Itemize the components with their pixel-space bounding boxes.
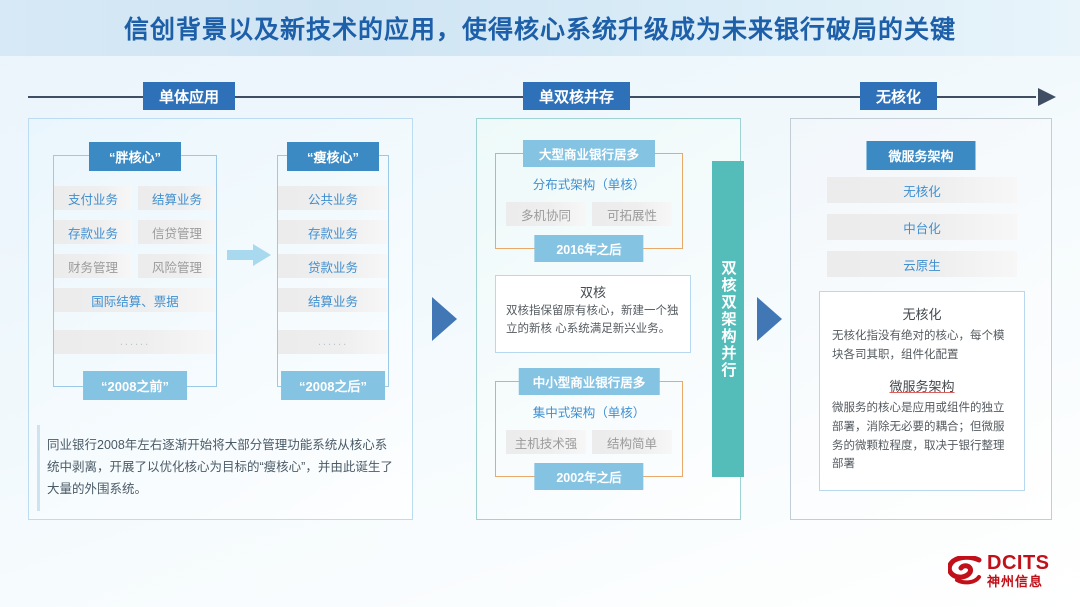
box-small-bank: 中小型商业银行居多 集中式架构（单核） 主机技术强 结构简单 2002年之后 [495,381,683,477]
note-dual-core-body: 双核指保留原有核心，新建一个独立的新核 心系统满足新兴业务。 [506,303,680,339]
table-row: 存款业务 [278,220,388,244]
note-spacer [832,364,1012,374]
cell-支付业务: 支付业务 [54,186,132,210]
cell-国际结算票据: 国际结算、票据 [54,288,216,312]
table-row: 贷款业务 [278,254,388,278]
table-row: 多机协同 可拓展性 [496,202,682,226]
box-fat-core-header: “胖核心” [89,142,181,171]
note-no-kernel: 无核化 无核化指没有绝对的核心，每个模块各司其职，组件化配置 微服务架构 微服务… [819,291,1025,491]
dual-core-sidebar: 双核双架构并行 [712,161,744,477]
note-dual-core-title: 双核 [506,282,680,301]
panel-no-kernel: 微服务架构 无核化 中台化 云原生 无核化 无核化指没有绝对的核心，每个模块各司… [790,118,1052,520]
table-row: ...... [54,330,216,354]
cell-云原生: 云原生 [827,251,1017,277]
cell-结算业务: 结算业务 [138,186,216,210]
timeline-stage-单体应用[interactable]: 单体应用 [143,82,235,110]
tag-结构简单: 结构简单 [592,430,672,454]
cell-结算业务: 结算业务 [278,288,388,312]
table-row: 国际结算、票据 [54,288,216,312]
box-fat-core-footer: “2008之前” [83,371,187,400]
transition-arrow-icon [227,244,271,266]
stage-arrow-icon-2 [757,297,782,341]
large-bank-arch-title: 分布式架构（单核） [496,174,682,193]
timeline-arrow-icon [1038,88,1056,106]
note-dual-core: 双核 双核指保留原有核心，新建一个独立的新核 心系统满足新兴业务。 [495,275,691,353]
panel-single-description: 同业银行2008年左右逐渐开始将大部分管理功能系统从核心系统中剥离，开展了以优化… [39,431,404,511]
panel-single-application: “胖核心” 支付业务 结算业务 存款业务 信贷管理 财务管理 风险管理 国际结算… [28,118,413,520]
cell-存款业务: 存款业务 [54,220,132,244]
table-row: 存款业务 信贷管理 [54,220,216,244]
note-no-kernel-title-2: 微服务架构 [832,376,1012,395]
tag-多机协同: 多机协同 [506,202,586,226]
table-row: 支付业务 结算业务 [54,186,216,210]
box-small-bank-footer: 2002年之后 [534,463,643,490]
box-thin-core-footer: “2008之后” [281,371,385,400]
note-no-kernel-body-2: 微服务的核心是应用或组件的独立部署，消除无必要的耦合；但微服务的微颗粒程度，取决… [832,399,1012,474]
cell-公共业务: 公共业务 [278,186,388,210]
cell-贷款业务: 贷款业务 [278,254,388,278]
logo-text-cn: 神州信息 [987,575,1050,588]
no-kernel-row-list: 无核化 中台化 云原生 [827,177,1017,288]
small-bank-arch-title: 集中式架构（单核） [496,402,682,421]
page-title: 信创背景以及新技术的应用，使得核心系统升级成为未来银行破局的关键 [124,10,956,46]
panel-dual-core: 大型商业银行居多 分布式架构（单核） 多机协同 可拓展性 2016年之后 双核 … [476,118,741,520]
tag-可拓展性: 可拓展性 [592,202,672,226]
cell-财务管理: 财务管理 [54,254,132,278]
timeline: 单体应用 单双核并存 无核化 [28,82,1056,112]
box-large-bank-header: 大型商业银行居多 [523,140,655,167]
cell-中台化: 中台化 [827,214,1017,240]
title-band: 信创背景以及新技术的应用，使得核心系统升级成为未来银行破局的关键 [0,0,1080,56]
note-no-kernel-body-1: 无核化指没有绝对的核心，每个模块各司其职，组件化配置 [832,327,1012,364]
table-row: 结算业务 [278,288,388,312]
stage-arrow-icon-1 [432,297,457,341]
box-thin-core-header: “瘦核心” [287,142,379,171]
microservice-badge: 微服务架构 [866,141,975,170]
cell-ellipsis: ...... [54,330,216,354]
box-small-bank-header: 中小型商业银行居多 [519,368,660,395]
dual-core-sidebar-label: 双核双架构并行 [718,260,739,379]
table-row: ...... [278,330,388,354]
logo-text-en: DCITS [987,553,1050,573]
timeline-stage-单双核并存[interactable]: 单双核并存 [523,82,630,110]
cell-ellipsis: ...... [278,330,388,354]
company-logo: DCITS 神州信息 [948,553,1068,599]
cell-存款业务: 存款业务 [278,220,388,244]
table-row: 财务管理 风险管理 [54,254,216,278]
timeline-stage-无核化[interactable]: 无核化 [860,82,937,110]
table-row: 公共业务 [278,186,388,210]
dcits-swoosh-icon [948,556,982,586]
box-fat-core: “胖核心” 支付业务 结算业务 存款业务 信贷管理 财务管理 风险管理 国际结算… [53,155,217,387]
cell-信贷管理: 信贷管理 [138,220,216,244]
box-large-bank: 大型商业银行居多 分布式架构（单核） 多机协同 可拓展性 2016年之后 [495,153,683,249]
tag-主机技术强: 主机技术强 [506,430,586,454]
cell-风险管理: 风险管理 [138,254,216,278]
box-large-bank-footer: 2016年之后 [534,235,643,262]
note-no-kernel-title-1: 无核化 [832,304,1012,323]
cell-无核化: 无核化 [827,177,1017,203]
box-thin-core: “瘦核心” 公共业务 存款业务 贷款业务 结算业务 ...... “2008之后… [277,155,389,387]
table-row: 主机技术强 结构简单 [496,430,682,454]
